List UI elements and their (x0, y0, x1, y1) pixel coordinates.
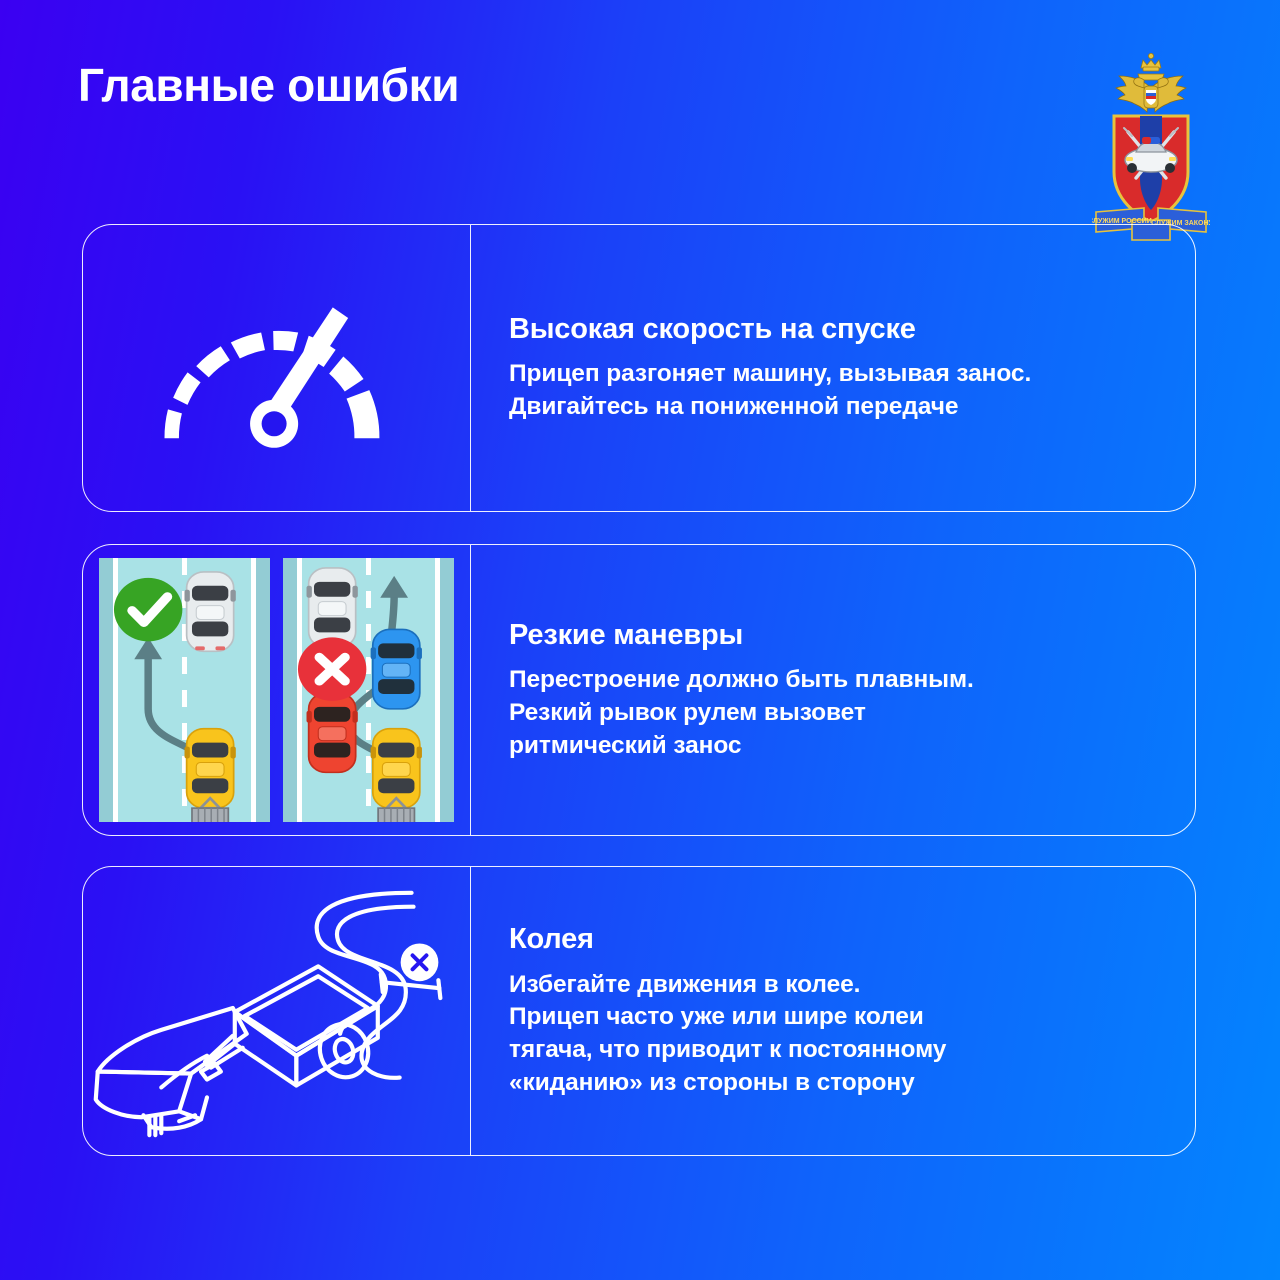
road-panel-good (99, 558, 270, 822)
card-body-3: Колея Избегайте движения в колее. Прицеп… (471, 867, 1195, 1155)
car-silver (307, 568, 358, 647)
car-red (307, 693, 358, 772)
card-high-speed-descent[interactable]: Высокая скорость на спуске Прицеп разгон… (82, 224, 1196, 512)
card-text-2-line-2: Резкий рывок рулем вызовет (509, 697, 1155, 730)
car-blue (371, 629, 422, 708)
bad-maneuver-overlay (283, 558, 454, 822)
card-media-2 (83, 545, 471, 835)
page-title: Главные ошибки (78, 62, 459, 108)
card-text-3-line-2: Прицеп часто уже или шире колеи (509, 1001, 1155, 1034)
card-heading-2: Резкие маневры (509, 618, 1155, 653)
card-text-1: Прицеп разгоняет машину, вызывая занос. … (509, 358, 1155, 424)
card-body-1: Высокая скорость на спуске Прицеп разгон… (471, 225, 1195, 511)
card-text-2: Перестроение должно быть плавным. Резкий… (509, 664, 1155, 762)
car-yellow-with-trailer (371, 729, 422, 808)
good-maneuver-overlay (99, 558, 270, 822)
card-text-3-line-1: Избегайте движения в колее. (509, 969, 1155, 1002)
card-body-2: Резкие маневры Перестроение должно быть … (471, 545, 1195, 835)
card-text-3-line-4: «киданию» из стороны в сторону (509, 1067, 1155, 1100)
card-text-3: Избегайте движения в колее. Прицеп часто… (509, 969, 1155, 1100)
cross-badge (298, 637, 366, 701)
card-text-1-line-1: Прицеп разгоняет машину, вызывая занос. (509, 358, 1155, 391)
car-yellow-with-trailer (185, 729, 236, 808)
gibdd-emblem: СЛУЖИМ РОССИИ СЛУЖИМ ЗАКОНУ (1092, 52, 1210, 242)
lane-change-diagram (83, 545, 470, 835)
card-heading-1: Высокая скорость на спуске (509, 312, 1155, 347)
card-text-1-line-2: Двигайтесь на пониженной передаче (509, 391, 1155, 424)
card-sharp-maneuvers[interactable]: Резкие маневры Перестроение должно быть … (82, 544, 1196, 836)
card-rut[interactable]: Колея Избегайте движения в колее. Прицеп… (82, 866, 1196, 1156)
card-media-3 (83, 867, 471, 1155)
speedometer-icon (152, 286, 402, 450)
card-text-2-line-3: ритмический занос (509, 730, 1155, 763)
card-heading-3: Колея (509, 922, 1155, 957)
road-panel-bad (283, 558, 454, 822)
card-text-2-line-1: Перестроение должно быть плавным. (509, 664, 1155, 697)
card-text-3-line-3: тягача, что приводит к постоянному (509, 1034, 1155, 1067)
card-media-1 (83, 225, 471, 511)
trailer-rut-illustration (83, 867, 470, 1155)
check-badge (114, 578, 182, 642)
car-silver (185, 572, 236, 651)
